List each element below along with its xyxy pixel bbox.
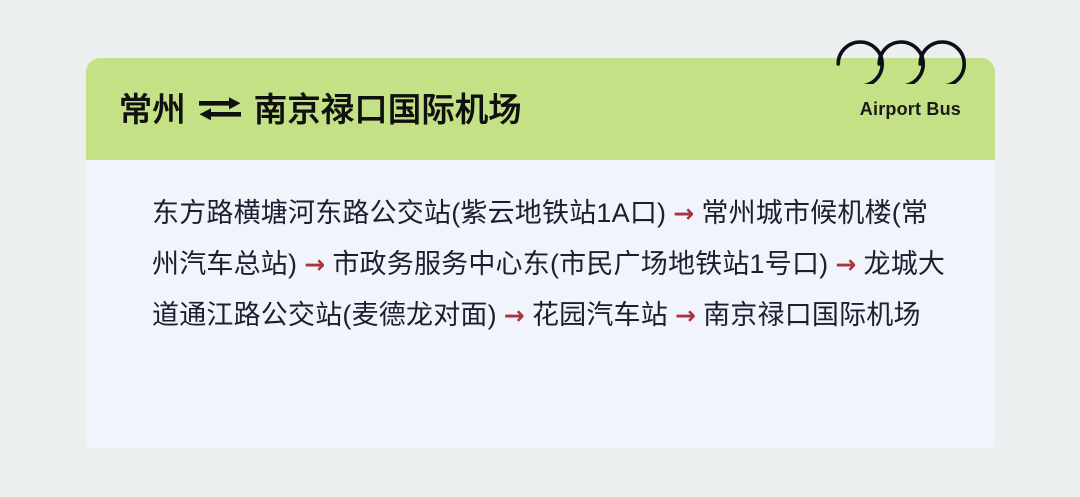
airport-bus-badge: Airport Bus: [860, 99, 969, 120]
route-title: 常州 南京禄口国际机场: [119, 93, 522, 126]
bidirectional-arrow-icon: [199, 96, 241, 122]
route-arrow-icon: →: [297, 250, 332, 279]
route-stop-sequence: 东方路横塘河东路公交站(紫云地铁站1A口)→常州城市候机楼(常州汽车总站)→市政…: [152, 188, 951, 341]
route-stop: 市政务服务中心东(市民广场地铁站1号口): [332, 249, 828, 279]
route-stop: 东方路横塘河东路公交站(紫云地铁站1A口): [152, 198, 666, 228]
three-rings-logo-icon: [833, 28, 967, 84]
route-origin: 常州: [119, 93, 186, 126]
route-arrow-icon: →: [668, 301, 703, 330]
route-arrow-icon: →: [666, 199, 701, 228]
route-stop: 花园汽车站: [532, 300, 668, 330]
route-card: 常州 南京禄口国际机场 Airport Bus 东方路横塘河东路公交站(: [86, 58, 995, 448]
route-card-body: 东方路横塘河东路公交站(紫云地铁站1A口)→常州城市候机楼(常州汽车总站)→市政…: [86, 160, 995, 448]
page-root: 常州 南京禄口国际机场 Airport Bus 东方路横塘河东路公交站(: [0, 0, 1080, 497]
route-destination: 南京禄口国际机场: [254, 93, 522, 126]
route-arrow-icon: →: [828, 250, 863, 279]
route-stop: 南京禄口国际机场: [703, 300, 921, 330]
route-arrow-icon: →: [497, 301, 532, 330]
